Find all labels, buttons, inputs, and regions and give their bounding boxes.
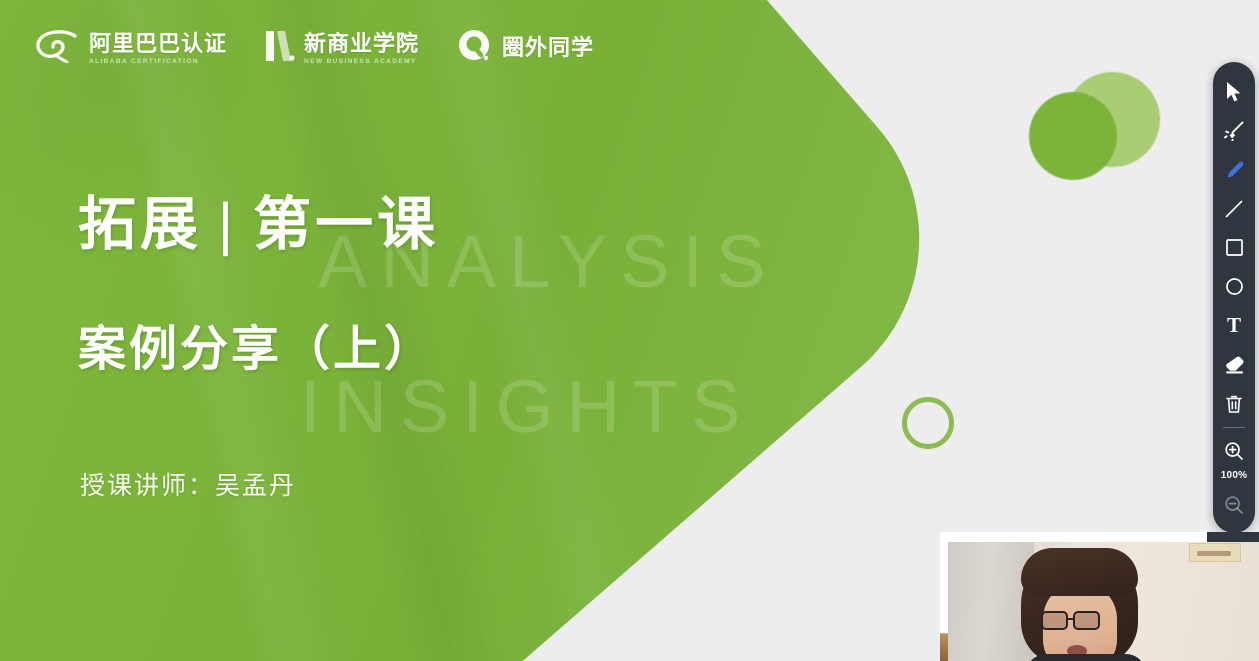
logo-academy-label: 新商业学院 [304,31,419,56]
decorative-circle-dark [1029,92,1117,180]
webcam-video-frame [948,542,1259,661]
annotation-toolbar[interactable]: T [1213,62,1255,533]
circle-icon [1225,277,1244,296]
glasses-bridge [1068,618,1073,620]
academy-book-icon [265,29,295,68]
presentation-window: ANALYSIS INSIGHTS 阿里巴巴认证 ALIBABA CERTIFI… [0,0,1259,661]
zoom-in-icon [1224,441,1244,461]
glasses-lens-right [1073,611,1100,630]
slide-headline: 拓展|第一课 [78,196,439,254]
logo-alibaba-label: 阿里巴巴认证 [89,31,227,56]
glasses-lens-left [1041,611,1068,630]
logo-bar: 阿里巴巴认证 ALIBABA CERTIFICATION 新商业学院 NEW B… [34,23,594,73]
tool-line[interactable] [1213,189,1255,228]
zoom-out-button[interactable] [1213,485,1255,524]
text-t-icon: T [1227,315,1241,336]
tool-pen[interactable] [1213,150,1255,189]
speaker-hair-front [1021,548,1138,596]
watermark-insights: INSIGHTS [300,370,753,444]
wall-note-decoration [1189,543,1241,562]
decorative-ring-outline [902,397,954,449]
logo-academy-text: 新商业学院 NEW BUSINESS ACADEMY [304,32,419,65]
slide-subheadline: 案例分享（上） [78,326,435,374]
logo-quanwai: 圈外同学 [457,25,594,71]
slide-presenter-line: 授课讲师：吴孟丹 [80,474,296,499]
pen-icon [1224,160,1244,180]
tool-rectangle[interactable] [1213,228,1255,267]
logo-alibaba-sublabel: ALIBABA CERTIFICATION [89,58,227,65]
logo-alibaba-text: 阿里巴巴认证 ALIBABA CERTIFICATION [89,32,227,65]
zoom-out-icon [1224,495,1244,515]
tool-select[interactable] [1213,72,1255,111]
headline-right: 第一课 [253,192,439,257]
speaker-shoulders [1026,654,1146,661]
webcam-video-panel[interactable] [940,532,1259,661]
tool-text[interactable]: T [1213,306,1255,345]
alibaba-swirl-icon [34,29,80,68]
tool-clear-all[interactable] [1213,384,1255,423]
eraser-icon [1224,355,1245,374]
tool-eraser[interactable] [1213,345,1255,384]
zoom-in-button[interactable] [1213,431,1255,470]
zoom-level-label: 100% [1221,470,1247,485]
toolbar-divider [1223,427,1245,428]
logo-quanwai-text: 圈外同学 [502,36,594,60]
webcam-top-overlay-bar [1207,532,1259,542]
square-icon [1225,238,1244,257]
headline-left: 拓展 [78,192,202,257]
tool-laser-pointer[interactable] [1213,111,1255,150]
cursor-arrow-icon [1226,82,1243,102]
headline-separator: | [218,196,237,254]
line-icon [1224,199,1244,219]
logo-quanwai-label: 圈外同学 [502,35,594,60]
webcam-left-edge [940,532,948,661]
quanwai-q-icon [457,28,493,69]
logo-alibaba-certification: 阿里巴巴认证 ALIBABA CERTIFICATION [34,25,227,71]
logo-academy-sublabel: NEW BUSINESS ACADEMY [304,58,419,65]
laser-pointer-icon [1224,120,1245,141]
trash-icon [1225,394,1243,414]
tool-ellipse[interactable] [1213,267,1255,306]
logo-new-business-academy: 新商业学院 NEW BUSINESS ACADEMY [265,25,419,71]
